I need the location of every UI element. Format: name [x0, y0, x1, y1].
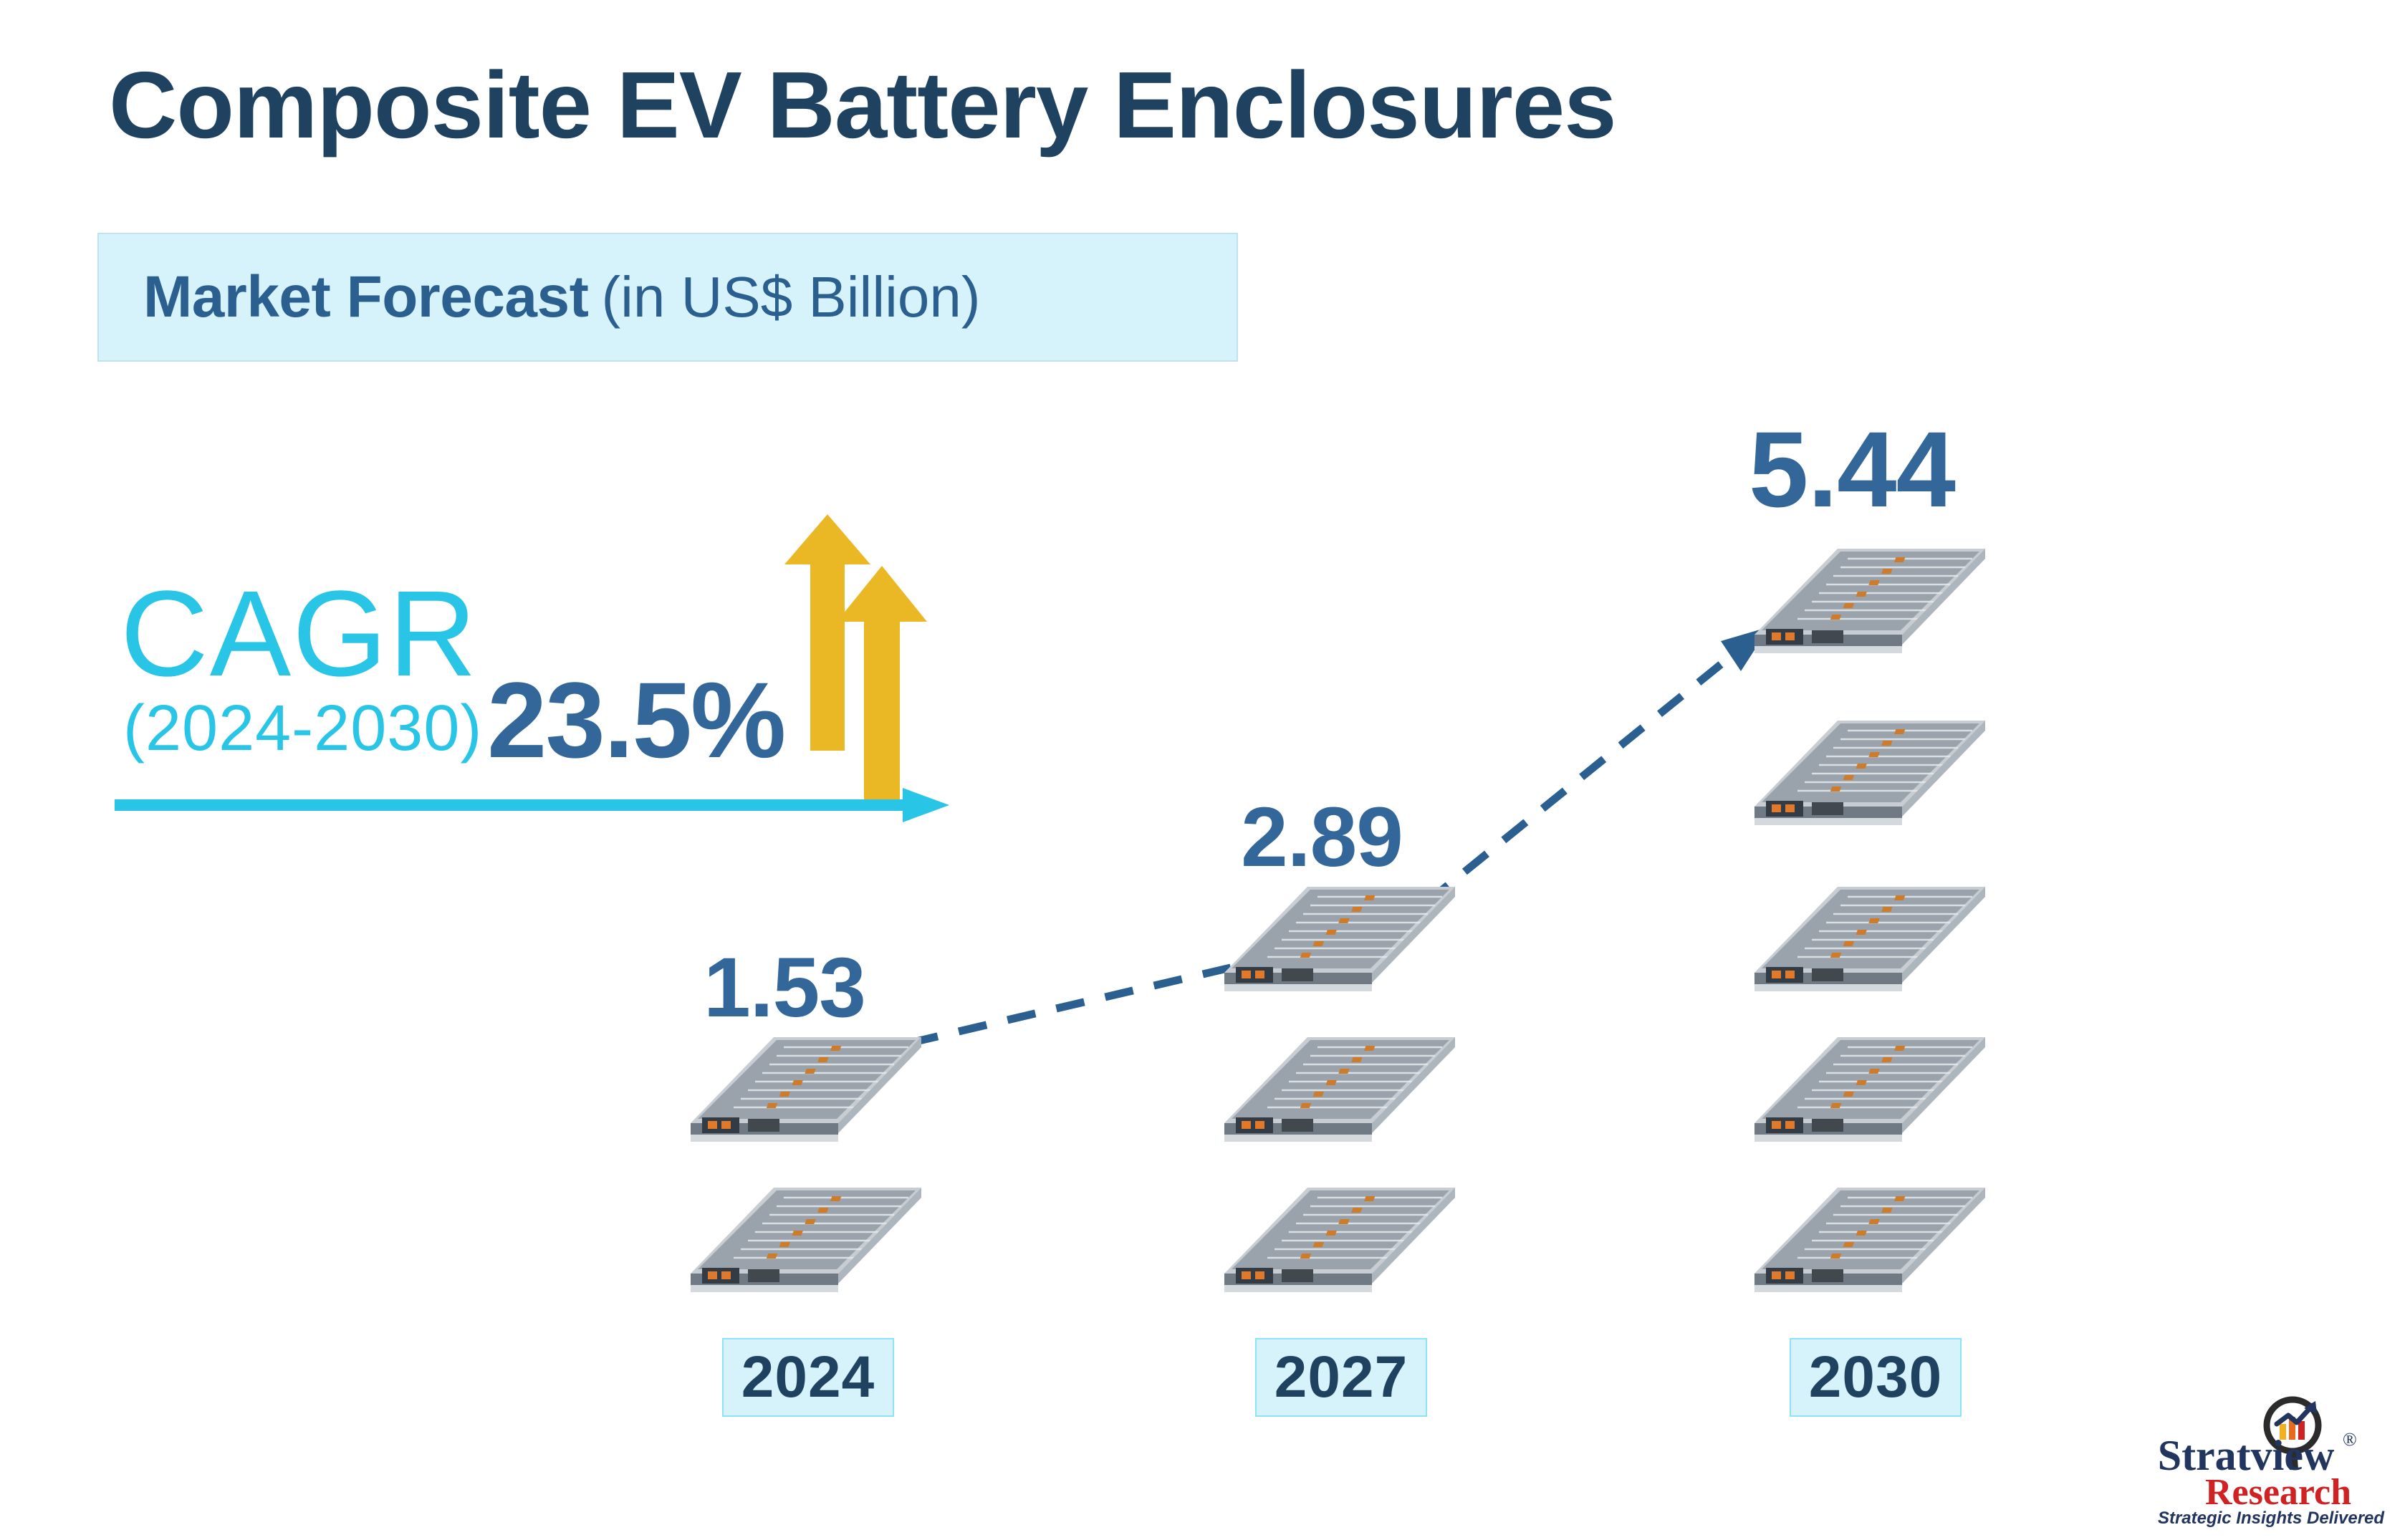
battery-pack-icon — [1752, 1183, 1988, 1298]
battery-pack-icon — [688, 1183, 924, 1298]
battery-pack-icon — [1752, 544, 1988, 659]
value-label-2027: 2.89 — [1204, 795, 1440, 880]
growth-arrow-up-short — [837, 566, 927, 802]
battery-pack-icon — [1221, 1033, 1458, 1147]
battery-pack-icon — [1752, 1033, 1988, 1147]
infographic-canvas: Composite EV Battery Enclosures Market F… — [0, 0, 2405, 1540]
subtitle-strong-text: Market Forecast — [143, 264, 588, 331]
timeline-arrow-right — [115, 781, 949, 831]
battery-pack-icon — [1752, 716, 1988, 831]
page-title: Composite EV Battery Enclosures — [109, 56, 1616, 155]
cagr-label: CAGR — [120, 573, 478, 695]
cagr-value: 23.5% — [487, 666, 784, 774]
battery-pack-icon — [688, 1033, 924, 1147]
subtitle-unit-text: (in US$ Billion) — [601, 264, 980, 330]
subtitle-banner: Market Forecast (in US$ Billion) — [97, 233, 1238, 362]
logo-division-name: Research — [2171, 1474, 2386, 1511]
year-chip-2030: 2030 — [1790, 1338, 1962, 1417]
value-label-2024: 1.53 — [666, 945, 903, 1030]
brand-logo: Stratview ® Research Strategic Insights … — [2128, 1397, 2393, 1522]
logo-tagline: Strategic Insights Delivered — [2156, 1510, 2386, 1527]
battery-pack-icon — [1221, 882, 1458, 997]
battery-pack-icon — [1752, 882, 1988, 997]
logo-brand-name: Stratview — [2128, 1434, 2364, 1477]
year-chip-2024: 2024 — [722, 1338, 894, 1417]
battery-pack-icon — [1221, 1183, 1458, 1298]
registered-trademark-icon: ® — [2343, 1429, 2357, 1450]
connector-2027-to-2030 — [1426, 620, 1770, 906]
cagr-period-label: (2024-2030) — [123, 696, 482, 761]
value-label-2030: 5.44 — [1709, 415, 1995, 523]
year-chip-2027: 2027 — [1255, 1338, 1427, 1417]
